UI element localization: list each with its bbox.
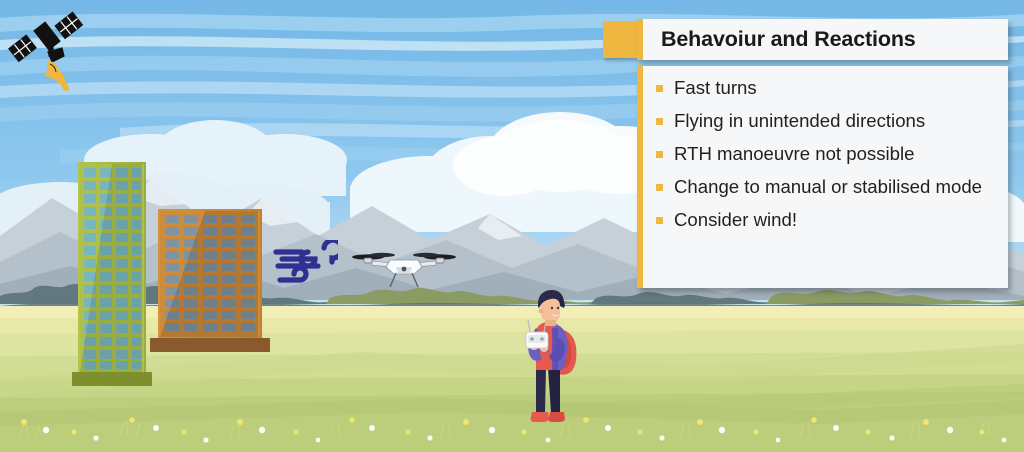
bullet-text: RTH manoeuvre not possible	[674, 142, 996, 165]
leg-right	[548, 368, 560, 412]
shoe-left	[531, 412, 549, 422]
bullet-square-icon	[656, 184, 663, 191]
bullet-square-icon	[656, 217, 663, 224]
title-panel-body: Behavoiur and Reactions	[643, 19, 1008, 60]
bullet-panel-body: Fast turns Flying in unintended directio…	[643, 66, 1008, 288]
bullet-panel: Fast turns Flying in unintended directio…	[637, 66, 1008, 288]
page-title: Behavoiur and Reactions	[643, 19, 1008, 60]
signal-waves-icon	[48, 64, 66, 88]
bullet-text: Change to manual or stabilised mode	[674, 175, 996, 198]
drone-icon	[352, 246, 456, 288]
leg-left	[536, 368, 546, 412]
bullet-square-icon	[656, 85, 663, 92]
slide-canvas: Behavoiur and Reactions Fast turns Flyin…	[0, 0, 1024, 452]
list-item: Change to manual or stabilised mode	[656, 175, 996, 198]
building-orange	[150, 209, 270, 352]
drone-pilot-figure	[508, 288, 588, 424]
wind-icon	[272, 240, 338, 286]
bullet-text: Flying in unintended directions	[674, 109, 996, 132]
bullet-text: Fast turns	[674, 76, 996, 99]
accent-square	[603, 21, 638, 58]
bullet-text: Consider wind!	[674, 208, 996, 231]
list-item: Fast turns	[656, 76, 996, 99]
title-panel: Behavoiur and Reactions	[637, 19, 1008, 60]
shoe-right	[549, 412, 565, 422]
list-item: Flying in unintended directions	[656, 109, 996, 132]
bullet-list: Fast turns Flying in unintended directio…	[656, 76, 996, 231]
bullet-square-icon	[656, 118, 663, 125]
building-green	[72, 162, 152, 386]
list-item: Consider wind!	[656, 208, 996, 231]
list-item: RTH manoeuvre not possible	[656, 142, 996, 165]
bullet-square-icon	[656, 151, 663, 158]
satellite-icon	[6, 4, 102, 100]
